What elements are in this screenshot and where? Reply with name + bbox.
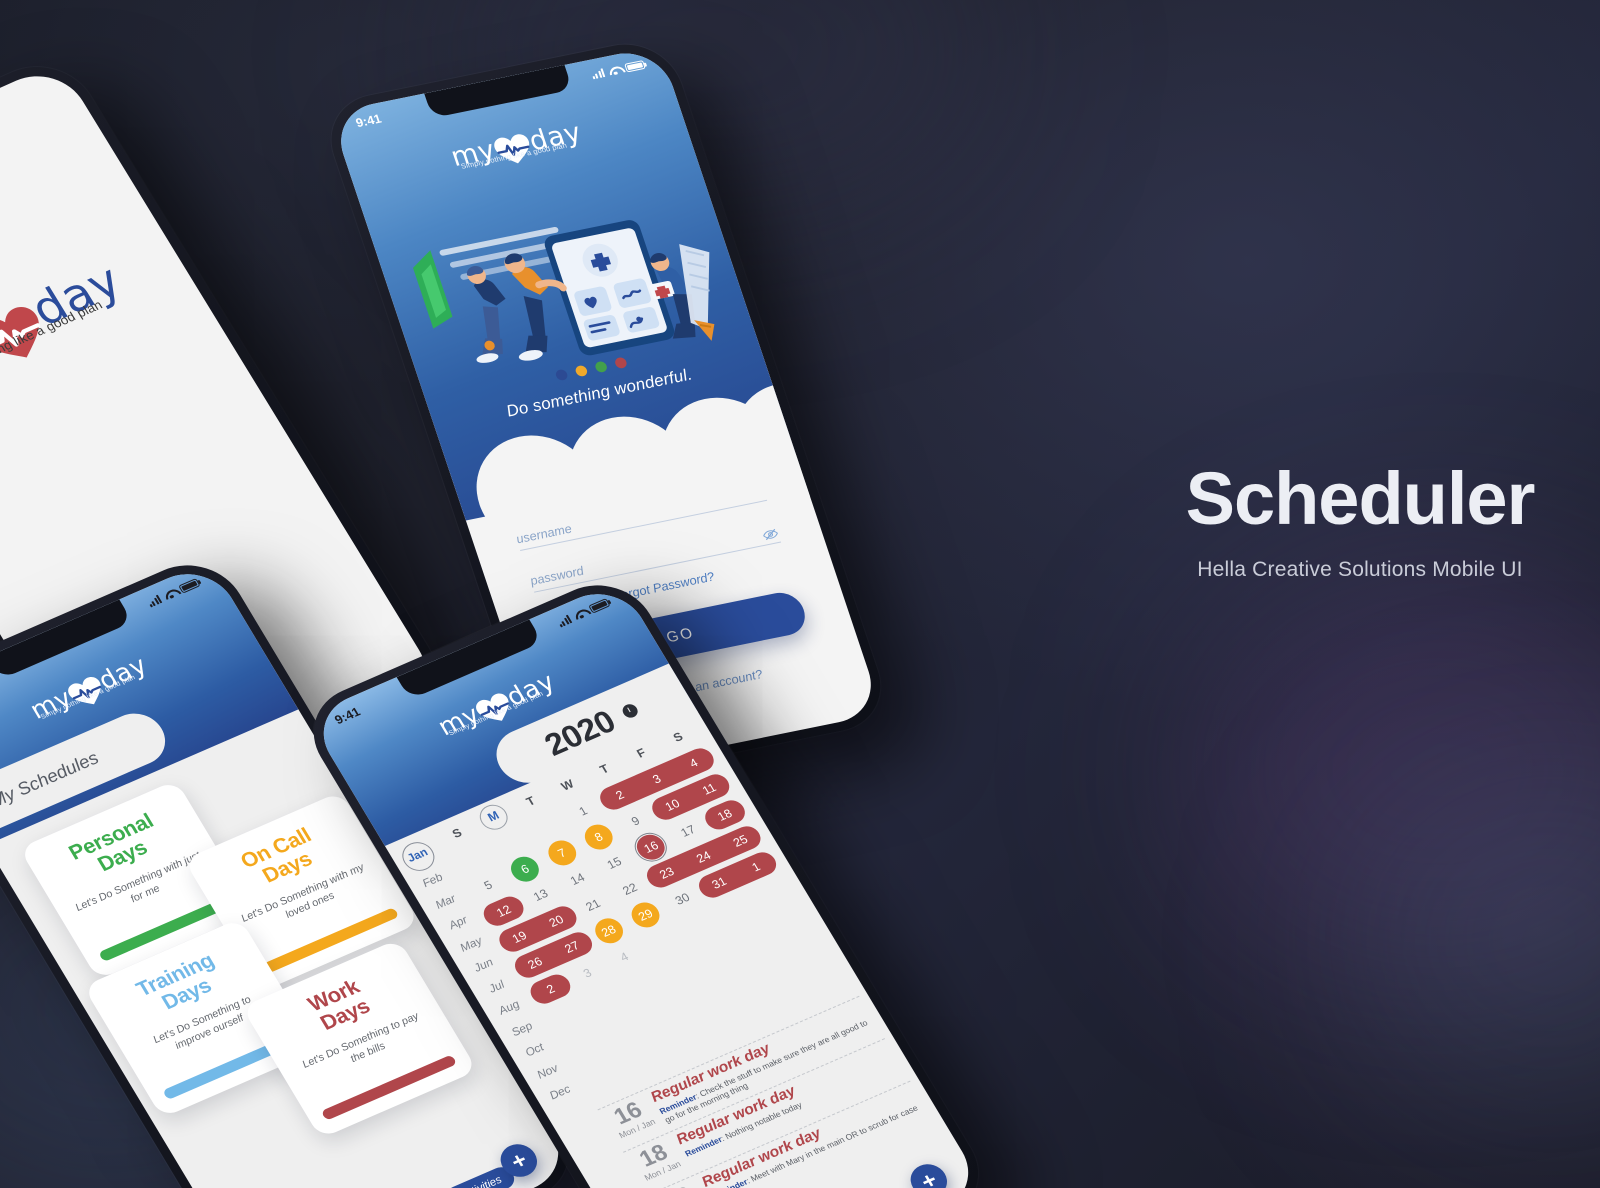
month-item-dec[interactable]: Dec [545,1079,576,1107]
page-subtitle: Hella Creative Solutions Mobile UI [1150,558,1570,582]
battery-icon [624,60,646,73]
password-placeholder: password [528,564,585,588]
wifi-icon [607,65,622,76]
signal-icon [590,68,605,79]
signal-icon [146,595,162,608]
clock-icon[interactable] [620,702,640,720]
month-item-jul[interactable]: Jul [484,974,509,999]
battery-icon [178,578,201,594]
background-glow-b [1340,760,1600,1120]
wifi-icon [162,588,178,601]
app-logo: my day Simply nothing like a good plan [0,254,137,402]
project-title-block: Scheduler Hella Creative Solutions Mobil… [1150,462,1570,582]
dot-1[interactable] [554,369,568,382]
background-glow-a [1180,560,1600,980]
battery-icon [588,598,611,614]
signal-icon [556,615,572,628]
login-brand-lockup: my day Simply nothing like a good plan [447,117,587,177]
add-button[interactable]: + [904,1159,953,1188]
mockup-scene: Scheduler Hella Creative Solutions Mobil… [0,0,1600,1188]
dot-3[interactable] [594,361,608,374]
wifi-icon [572,608,588,621]
eye-off-icon[interactable] [761,527,780,541]
status-time: 9:41 [332,704,363,726]
brand-lockup: my day Simply nothing like a good plan [0,254,137,402]
page-title: Scheduler [1150,462,1570,536]
dot-2[interactable] [574,365,588,378]
status-time: 9:41 [354,111,383,129]
